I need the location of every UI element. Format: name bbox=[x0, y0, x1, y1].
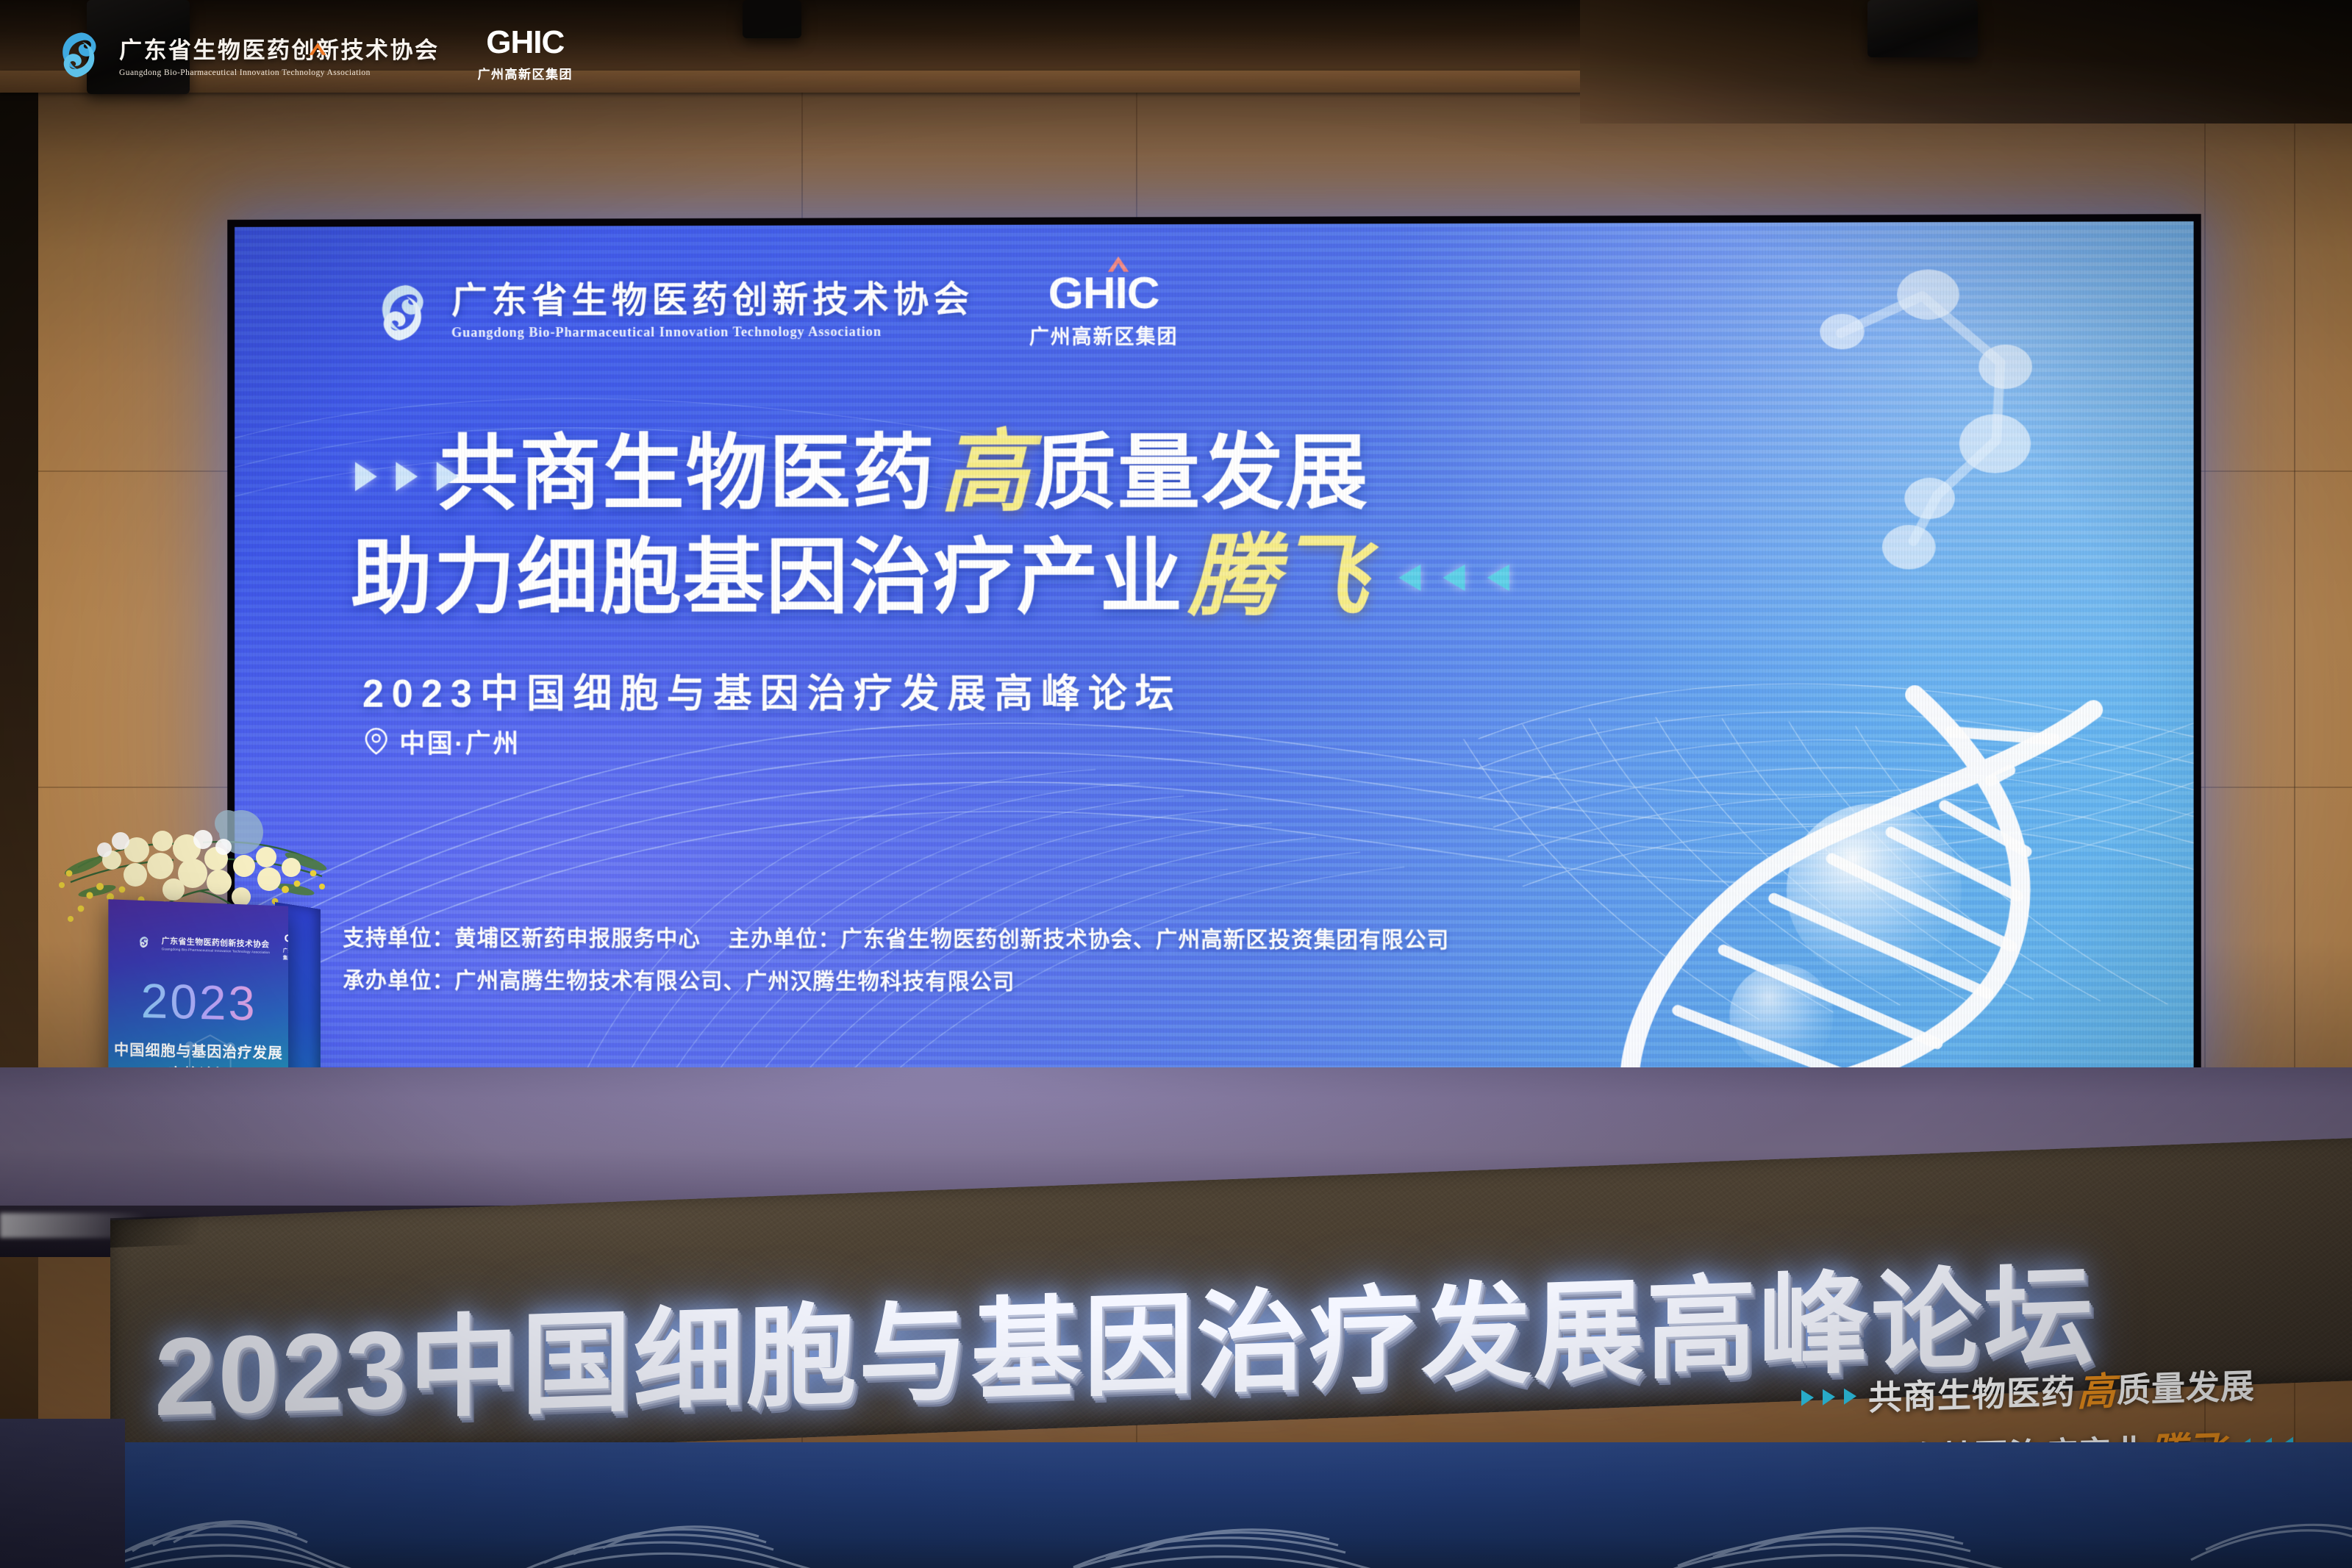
triangle-right-icon bbox=[396, 462, 418, 492]
triangle-left-icon bbox=[1487, 565, 1509, 591]
triangle-right-icon bbox=[1844, 1388, 1856, 1405]
association-swirl-icon bbox=[370, 279, 437, 346]
side-panel-arrows-left bbox=[1801, 1388, 1856, 1406]
led-screen-content: 广东省生物医药创新技术协会 Guangdong Bio-Pharmaceutic… bbox=[235, 221, 2194, 1080]
organizer-unit-label: 承办单位： bbox=[343, 968, 454, 992]
host-unit-label: 主办单位： bbox=[729, 927, 841, 951]
association-swirl-icon bbox=[137, 934, 151, 951]
side-panel-line1-accent: 高 bbox=[2077, 1360, 2115, 1417]
podium-ghic-wordmark: GHIC bbox=[285, 933, 288, 946]
podium-title-line1: 中国细胞与基因治疗发展 bbox=[108, 1038, 288, 1063]
headline-line2-accent: 腾飞 bbox=[1188, 533, 1368, 623]
organizer-line-2: 承办单位：广州高腾生物技术有限公司、广州汉腾生物科技有限公司 bbox=[343, 959, 1449, 1004]
headline-line1-accent: 高 bbox=[940, 429, 1030, 519]
triangle-left-icon bbox=[1443, 565, 1465, 591]
podium-logo-row: 广东省生物医药创新技术协会 Guangdong Bio-Pharmaceutic… bbox=[137, 927, 288, 962]
screen-logo-row: 广东省生物医药创新技术协会 Guangdong Bio-Pharmaceutic… bbox=[370, 271, 1178, 351]
ghic-wordmark: GHIC bbox=[486, 26, 564, 59]
host-unit-value: 广东省生物医药创新技术协会、广州高新区投资集团有限公司 bbox=[840, 927, 1449, 953]
screen-ghic-subtitle-cn: 广州高新区集团 bbox=[1029, 321, 1179, 349]
headline-arrows-left bbox=[355, 462, 458, 492]
triangle-right-icon bbox=[1823, 1389, 1835, 1406]
triangle-right-icon bbox=[1801, 1389, 1814, 1406]
headline-arrows-right bbox=[1398, 565, 1509, 591]
side-panel-line1-part1: 共商生物医药 bbox=[1868, 1364, 2076, 1420]
screen-ghic-logo: GHIC 广州高新区集团 bbox=[1029, 271, 1179, 350]
podium-year: 2023 bbox=[108, 971, 288, 1032]
support-unit-value: 黄埔区新药申报服务中心 bbox=[454, 926, 701, 951]
association-swirl-icon bbox=[53, 27, 107, 82]
ghic-caret-icon bbox=[1106, 255, 1131, 273]
headline-line1-part1: 共商生物医药 bbox=[437, 433, 936, 515]
conference-stage-photo: 广东省生物医药创新技术协会 Guangdong Bio-Pharmaceutic… bbox=[0, 0, 2352, 1568]
ceiling-light-bar bbox=[743, 0, 801, 38]
location-pin-icon bbox=[362, 727, 390, 755]
room-header-logos: 广东省生物医药创新技术协会 Guangdong Bio-Pharmaceutic… bbox=[53, 26, 573, 82]
ghic-subtitle-cn: 广州高新区集团 bbox=[478, 64, 573, 82]
venue-carpet bbox=[0, 1442, 2352, 1568]
podium-ghic-subtitle: 广州高新区集团 bbox=[283, 946, 288, 962]
triangle-left-icon bbox=[1398, 565, 1420, 591]
support-unit-label: 支持单位： bbox=[343, 926, 454, 951]
led-screen: 广东省生物医药创新技术协会 Guangdong Bio-Pharmaceutic… bbox=[227, 214, 2201, 1087]
screen-location: 中国·广州 bbox=[362, 723, 521, 760]
screen-association-name-en: Guangdong Bio-Pharmaceutical Innovation … bbox=[451, 324, 973, 340]
screen-headline: 共商生物医药 高 质量发展 助力细胞基因治疗产业 腾飞 bbox=[351, 428, 2115, 623]
screen-subtitle: 2023中国细胞与基因治疗发展高峰论坛 bbox=[362, 663, 1182, 719]
wall-left-shadow-panel bbox=[0, 0, 38, 1568]
association-name-en: Guangdong Bio-Pharmaceutical Innovation … bbox=[119, 68, 440, 77]
carpet-left-shadow bbox=[0, 1419, 125, 1568]
association-name-cn: 广东省生物医药创新技术协会 bbox=[119, 32, 440, 65]
organizer-unit-value: 广州高腾生物技术有限公司、广州汉腾生物科技有限公司 bbox=[454, 969, 1015, 995]
headline-line1-part2: 质量发展 bbox=[1034, 432, 1369, 515]
side-panel-line1-part2: 质量发展 bbox=[2117, 1359, 2255, 1412]
ghic-caret-icon bbox=[308, 42, 327, 56]
screen-association-name-cn: 广东省生物医药创新技术协会 bbox=[451, 282, 973, 321]
ceiling-speaker-right bbox=[1867, 0, 1978, 57]
headline-line2-part1: 助力细胞基因治疗产业 bbox=[351, 537, 1184, 619]
screen-ghic-wordmark: GHIC bbox=[1048, 271, 1159, 315]
screen-location-text: 中国·广州 bbox=[399, 723, 521, 760]
triangle-right-icon bbox=[355, 462, 377, 492]
screen-organizers: 支持单位：黄埔区新药申报服务中心主办单位：广东省生物医药创新技术协会、广州高新区… bbox=[343, 917, 1449, 1004]
organizer-line-1: 支持单位：黄埔区新药申报服务中心主办单位：广东省生物医药创新技术协会、广州高新区… bbox=[343, 917, 1449, 962]
carpet-wave-pattern bbox=[0, 1442, 2352, 1568]
triangle-right-icon bbox=[437, 462, 459, 492]
